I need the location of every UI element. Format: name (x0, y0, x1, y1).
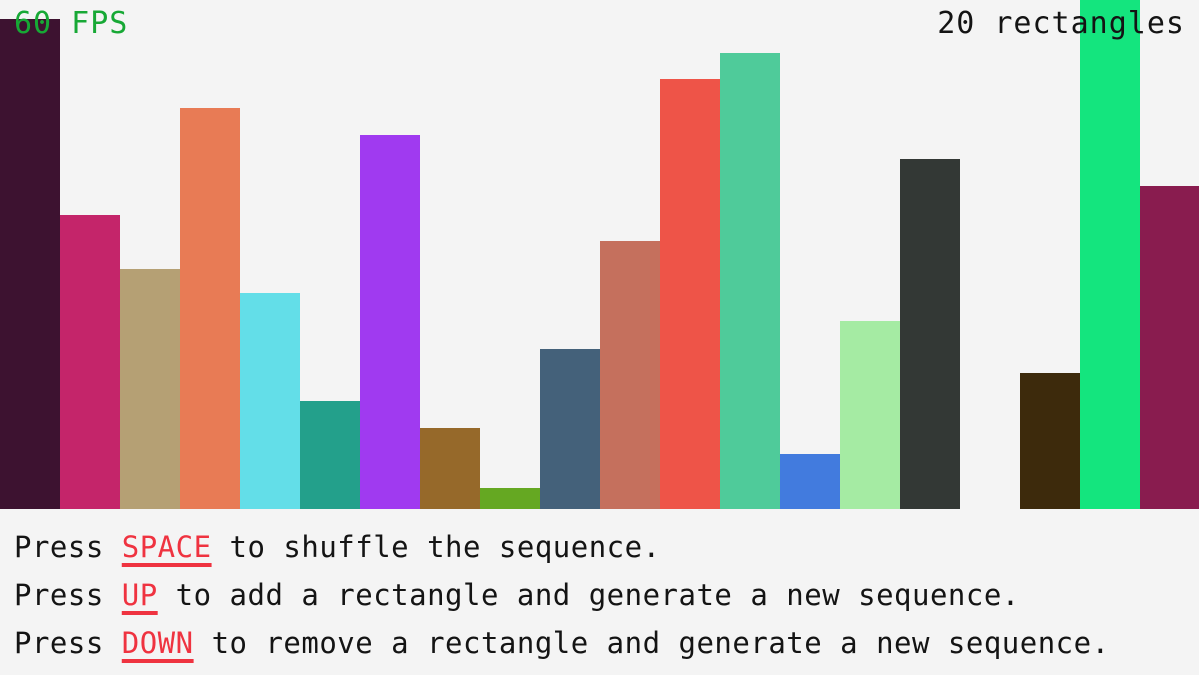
bar-brown (420, 428, 480, 509)
bar-mint-green (720, 53, 780, 509)
bar-chart (0, 0, 1199, 509)
bar-olive-green (480, 488, 540, 509)
bar-spring-green (1080, 0, 1140, 509)
bar-teal (300, 401, 360, 509)
instruction-suffix: to add a rectangle and generate a new se… (158, 578, 1020, 612)
instruction-line-1: Press SPACE to shuffle the sequence. (14, 523, 1199, 571)
fps-counter: 60 FPS (14, 7, 128, 41)
instruction-prefix: Press (14, 578, 122, 612)
instruction-line-2: Press UP to add a rectangle and generate… (14, 571, 1199, 619)
bar-red (660, 79, 720, 509)
key-up[interactable]: UP (122, 578, 158, 612)
bar-slate-blue (540, 349, 600, 509)
rectangle-count-label: 20 rectangles (937, 7, 1185, 41)
bar-orange (180, 108, 240, 509)
bar-royal-blue (780, 454, 840, 509)
bar-terracotta (600, 241, 660, 509)
bar-light-green (840, 321, 900, 509)
instruction-prefix: Press (14, 530, 122, 564)
bar-purple (360, 135, 420, 509)
instruction-suffix: to remove a rectangle and generate a new… (194, 626, 1110, 660)
instruction-prefix: Press (14, 626, 122, 660)
bar-dark-brown (1020, 373, 1080, 509)
bar-crimson (60, 215, 120, 509)
bar-cyan (240, 293, 300, 509)
instruction-suffix: to shuffle the sequence. (212, 530, 661, 564)
instruction-line-3: Press DOWN to remove a rectangle and gen… (14, 619, 1199, 667)
bar-charcoal (900, 159, 960, 509)
bar-dark-plum (0, 19, 60, 509)
key-space[interactable]: SPACE (122, 530, 212, 564)
instructions-panel: Press SPACE to shuffle the sequence.Pres… (0, 509, 1199, 675)
app-canvas: 60 FPS 20 rectangles Press SPACE to shuf… (0, 0, 1199, 675)
bar-tan (120, 269, 180, 509)
key-down[interactable]: DOWN (122, 626, 194, 660)
bar-dark-magenta (1140, 186, 1199, 509)
